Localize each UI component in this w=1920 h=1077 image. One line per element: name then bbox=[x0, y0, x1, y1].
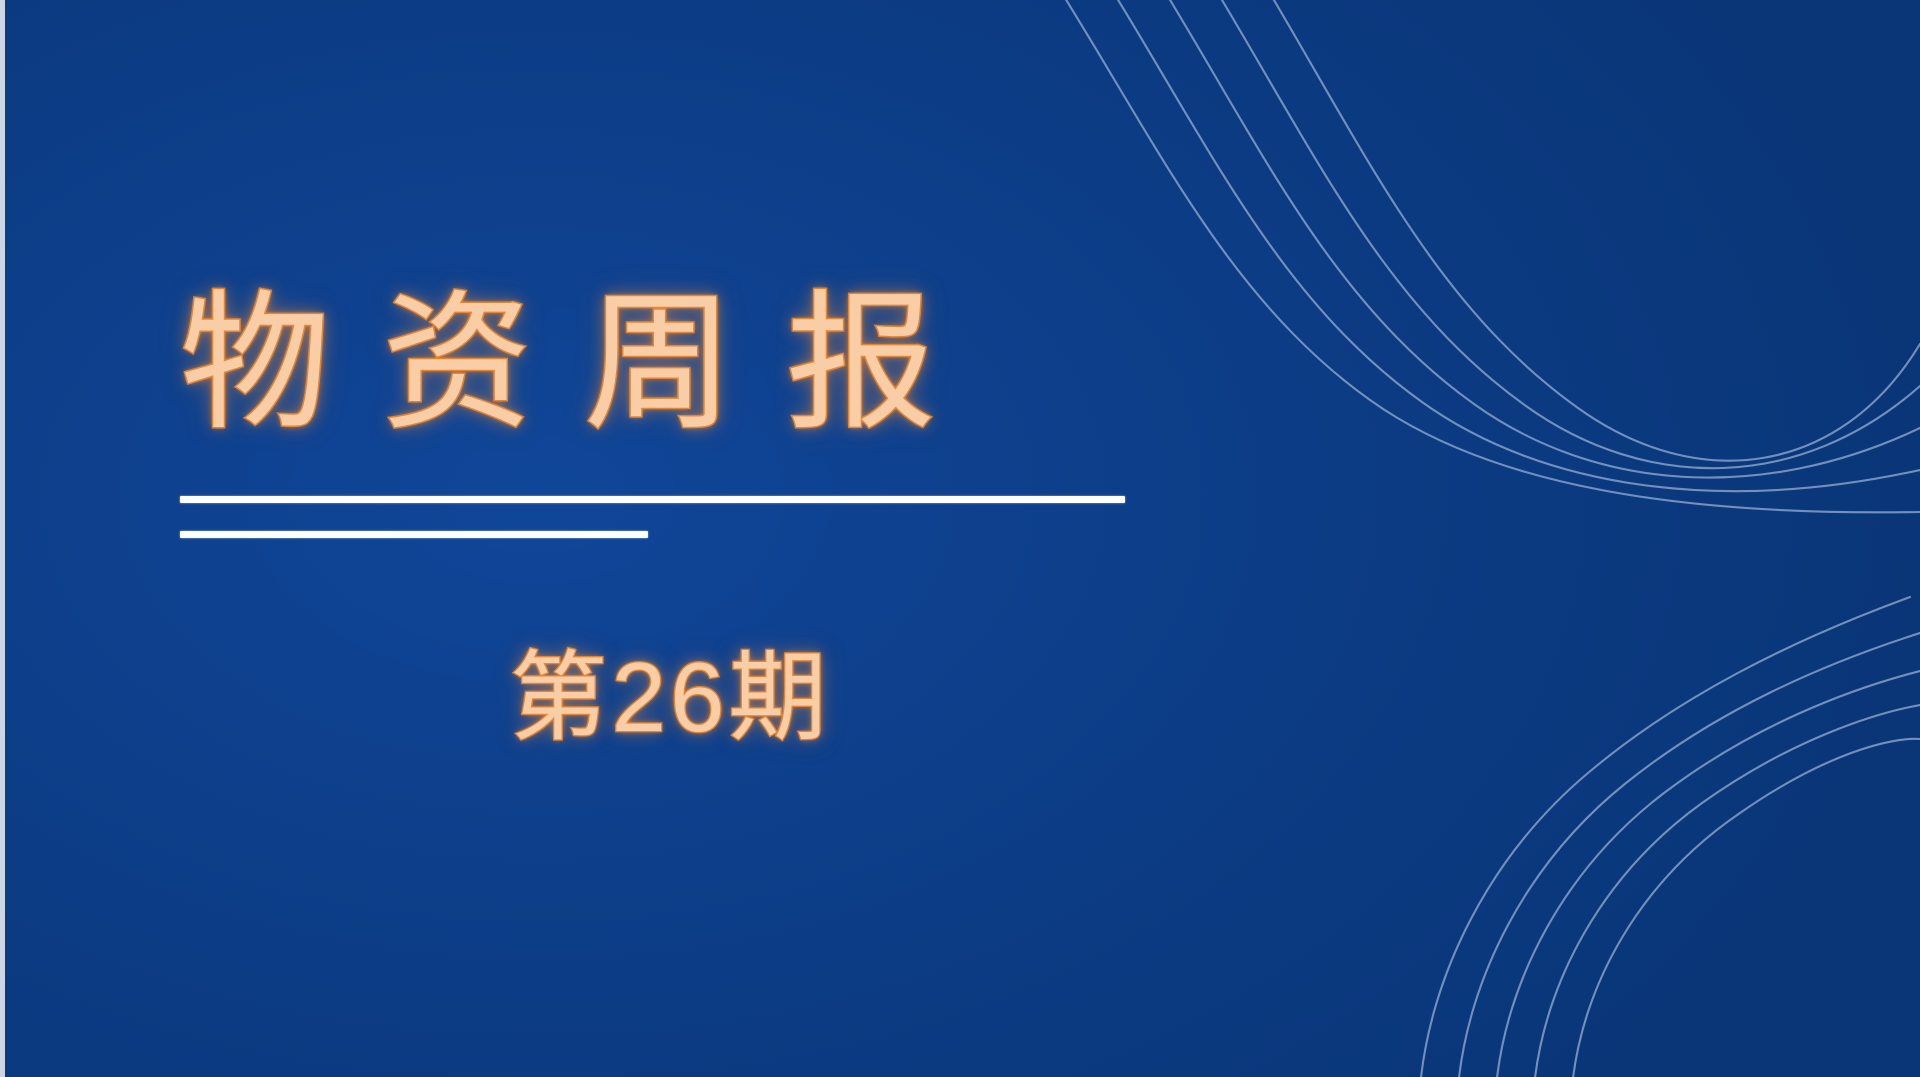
title-block: 物资周报 bbox=[180, 272, 988, 455]
page-subtitle: 第26期 bbox=[509, 640, 830, 756]
title-slide: 物资周报 第26期 bbox=[0, 0, 1920, 1077]
page-title: 物资周报 bbox=[180, 272, 988, 455]
title-underline-long bbox=[180, 496, 1125, 503]
subtitle-block: 第26期 bbox=[0, 640, 1340, 756]
swoosh-lines-top-right-icon bbox=[1040, 0, 1920, 520]
title-underline-group bbox=[180, 496, 1125, 538]
left-edge-strip bbox=[0, 0, 5, 1077]
title-underline-short bbox=[180, 531, 648, 538]
